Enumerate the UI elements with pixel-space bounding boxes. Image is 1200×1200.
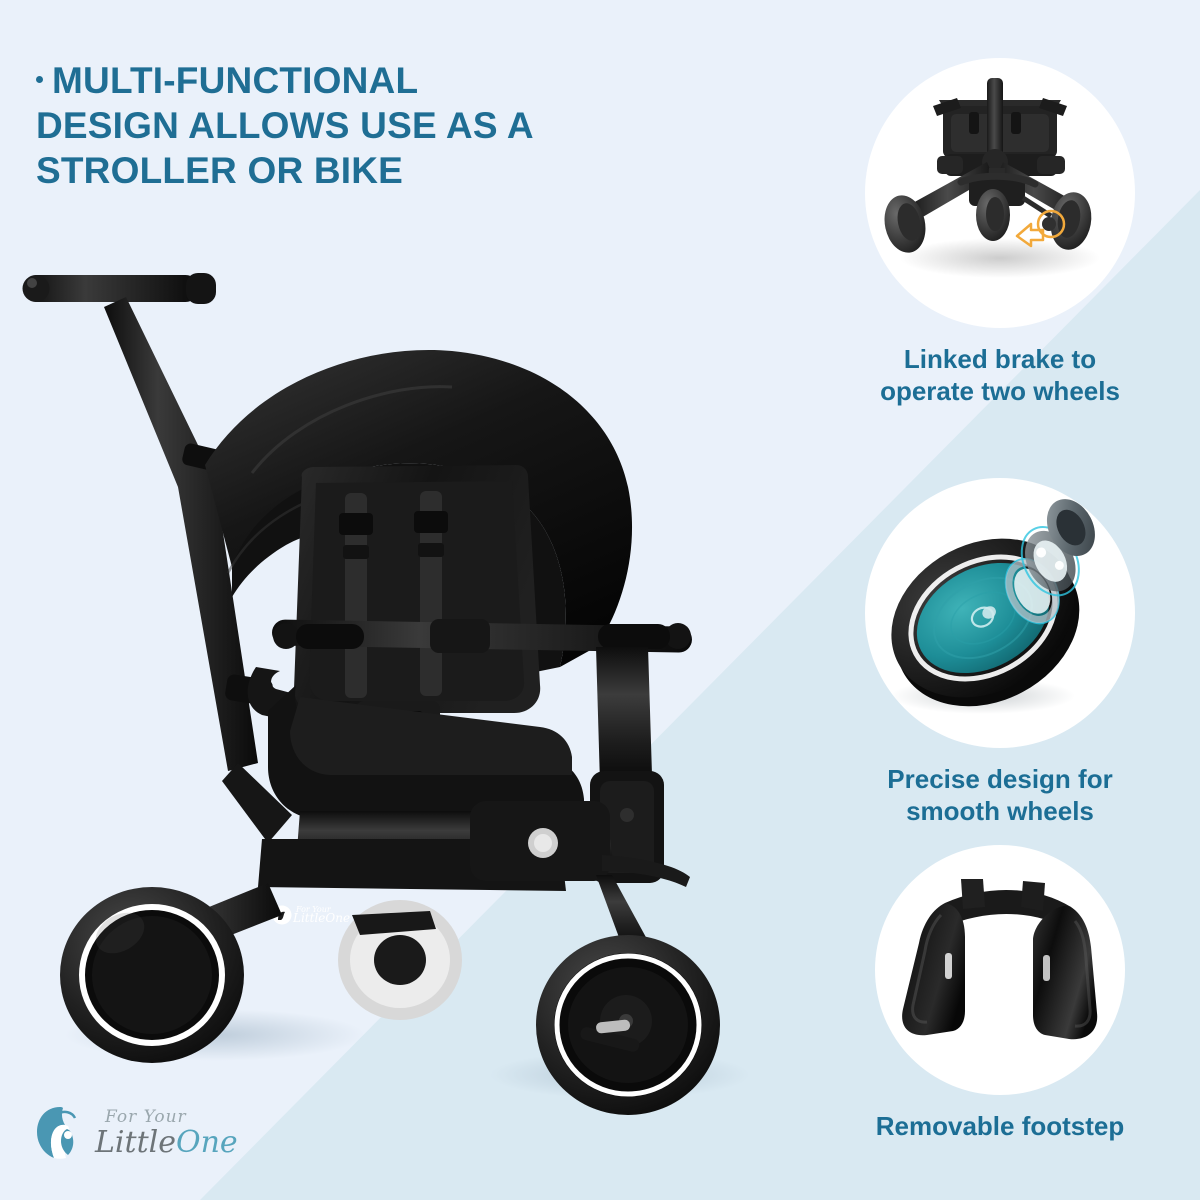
caption-line-1: Linked brake to (904, 344, 1096, 374)
headline-line-1: MULTI-FUNCTIONAL (52, 60, 418, 101)
frame-brand-badge: For Your LittleOne (273, 905, 351, 925)
logo-line-1: For Your (105, 1109, 238, 1126)
infographic-page: MULTI-FUNCTIONAL DESIGN ALLOWS USE AS A … (0, 0, 1200, 1200)
feature-image-smooth-wheels (865, 478, 1135, 748)
logo-line-2: LittleOne (95, 1128, 238, 1158)
main-product-image: For Your LittleOne (0, 215, 790, 1145)
feature-smooth-wheels: Precise design for smooth wheels (815, 478, 1185, 827)
product-alt-text: Black folding trike convertible stroller… (790, 215, 791, 216)
mother-and-child-icon (34, 1104, 86, 1162)
headline-line-2: DESIGN ALLOWS USE AS A (36, 105, 534, 146)
push-handle (23, 273, 217, 304)
feature-image-linked-brake (865, 58, 1135, 328)
bullet-point-icon (36, 76, 43, 83)
mid-wheel (338, 900, 462, 1020)
caption-line-2: smooth wheels (906, 796, 1094, 826)
svg-text:LittleOne: LittleOne (292, 911, 350, 925)
feature-image-removable-footstep (875, 845, 1125, 1095)
headline-line-3: STROLLER OR BIKE (36, 150, 403, 191)
front-wheel (536, 875, 720, 1115)
feature-caption-smooth-wheels: Precise design for smooth wheels (815, 764, 1185, 827)
rear-wheel (60, 887, 244, 1063)
feature-linked-brake: Linked brake to operate two wheels (815, 58, 1185, 407)
caption-line-1: Removable footstep (876, 1111, 1125, 1141)
page-headline: MULTI-FUNCTIONAL DESIGN ALLOWS USE AS A … (36, 58, 596, 193)
logo-little: Litt (95, 1125, 149, 1160)
feature-caption-linked-brake: Linked brake to operate two wheels (815, 344, 1185, 407)
caption-line-2: operate two wheels (880, 376, 1120, 406)
logo-one: One (176, 1125, 238, 1160)
feature-removable-footstep: Removable footstep (815, 845, 1185, 1143)
caption-line-1: Precise design for (887, 764, 1112, 794)
logo-little-end: le (149, 1125, 176, 1160)
feature-caption-removable-footstep: Removable footstep (815, 1111, 1185, 1143)
brand-logo: For Your LittleOne (34, 1104, 238, 1162)
